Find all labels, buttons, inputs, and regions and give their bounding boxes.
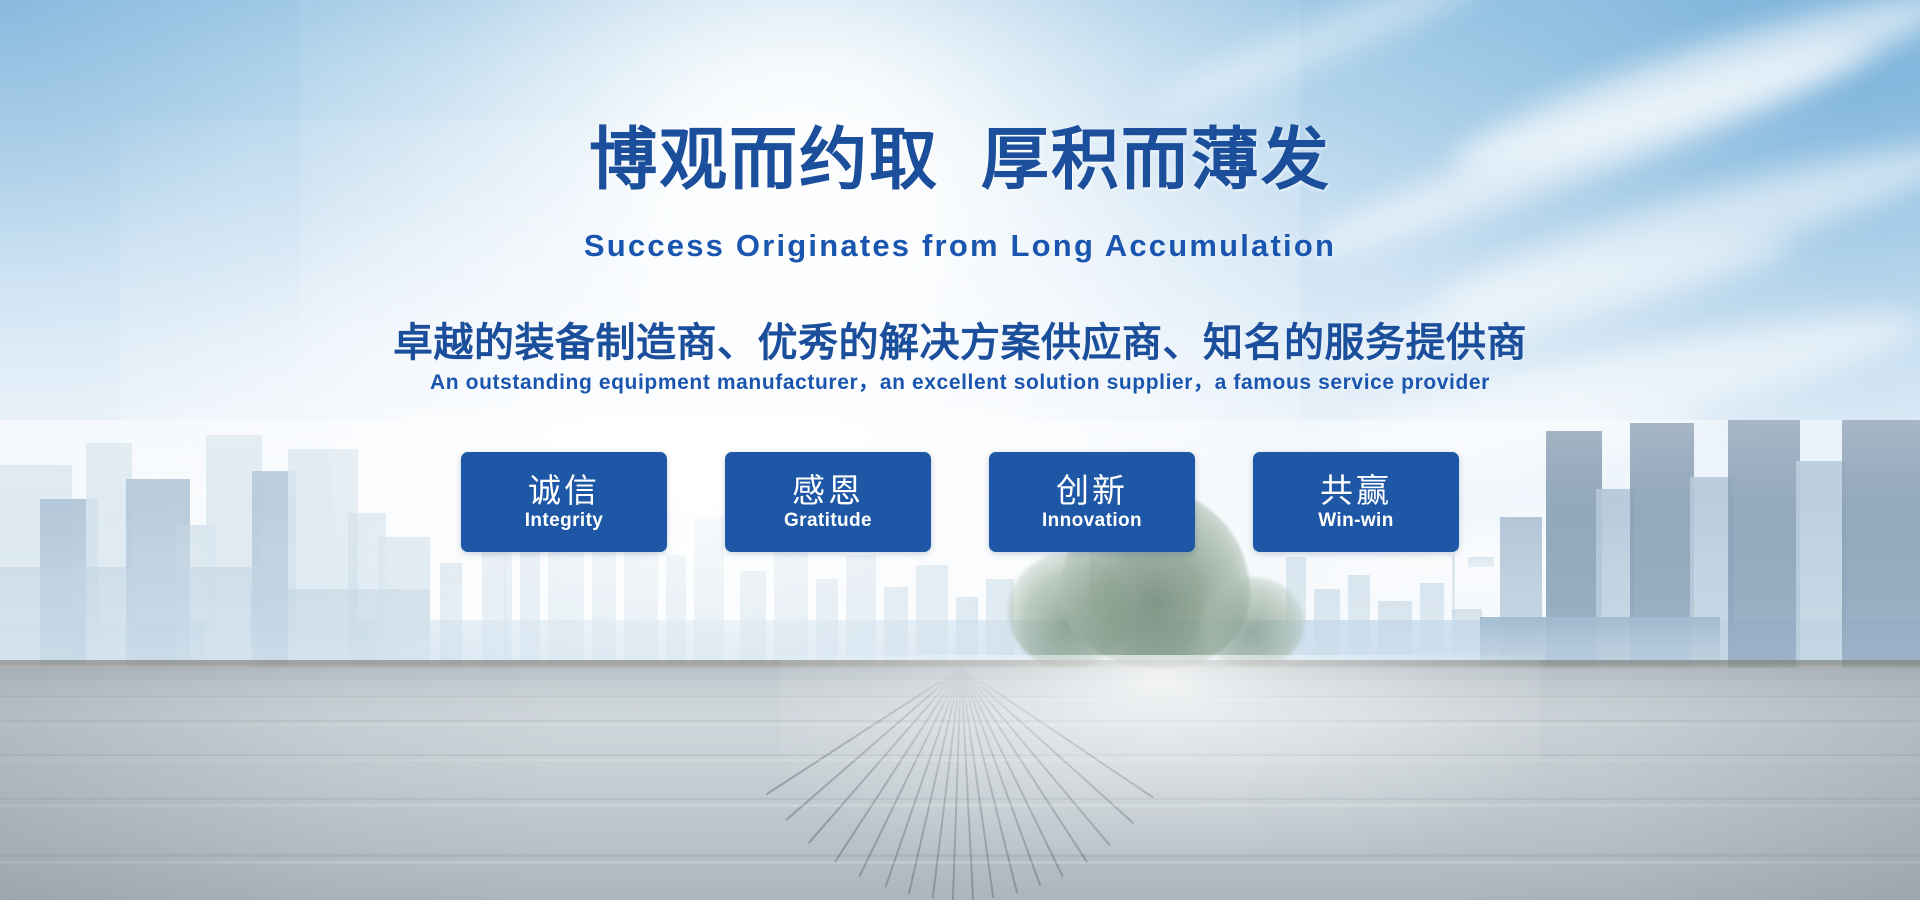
value-label-en: Win-win: [1318, 511, 1393, 532]
value-box-winwin[interactable]: 共赢 Win-win: [1253, 452, 1459, 552]
value-box-innovation[interactable]: 创新 Innovation: [989, 452, 1195, 552]
value-label-en: Innovation: [1042, 511, 1142, 532]
value-box-gratitude[interactable]: 感恩 Gratitude: [725, 452, 931, 552]
hero-banner: 博观而约取 厚积而薄发 Success Originates from Long…: [0, 0, 1920, 900]
value-label-en: Integrity: [525, 511, 604, 532]
core-values-list: 诚信 Integrity 感恩 Gratitude 创新 Innovation …: [0, 452, 1920, 552]
banner-subtitle-english: An outstanding equipment manufacturer，an…: [0, 366, 1920, 396]
value-label-cn: 感恩: [792, 473, 864, 510]
banner-content: 博观而约取 厚积而薄发 Success Originates from Long…: [0, 0, 1920, 900]
value-box-integrity[interactable]: 诚信 Integrity: [461, 452, 667, 552]
value-label-cn: 创新: [1056, 473, 1128, 510]
banner-title-english: Success Originates from Long Accumulatio…: [0, 228, 1920, 264]
banner-subtitle-chinese: 卓越的装备制造商、优秀的解决方案供应商、知名的服务提供商: [0, 310, 1920, 368]
value-label-en: Gratitude: [784, 511, 872, 532]
banner-title-chinese: 博观而约取 厚积而薄发: [0, 126, 1920, 195]
value-label-cn: 共赢: [1320, 473, 1392, 510]
value-label-cn: 诚信: [528, 473, 600, 510]
